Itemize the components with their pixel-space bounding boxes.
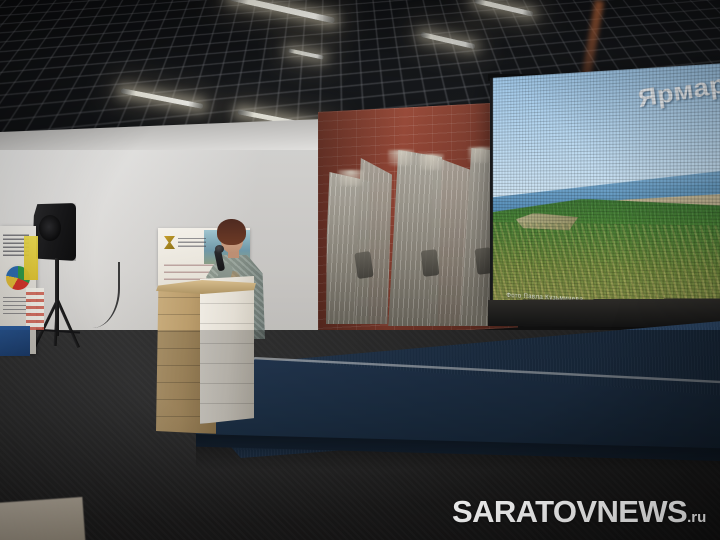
pa-speaker-cone [39, 215, 61, 241]
curtain-gather-top [418, 154, 444, 170]
led-screen-frame-bottom [488, 298, 720, 328]
curtain-tieback [354, 251, 373, 279]
watermark-brand: SARATOVNEWS [452, 494, 687, 529]
speaker-hair [217, 219, 246, 245]
watermark: SARATOVNEWS.ru [452, 494, 706, 530]
poster-tag-strip [26, 288, 44, 330]
pa-speaker-cabinet [33, 203, 76, 261]
poster-blue-sign [0, 326, 30, 356]
curtain-gather-top [388, 150, 414, 166]
podium-front-panel [200, 276, 254, 424]
curtain-tieback [421, 249, 440, 277]
floor-object [0, 497, 85, 540]
banner-logo-text [178, 238, 206, 247]
poster-yellow-strip [24, 236, 38, 280]
microphone-head-icon [215, 245, 224, 253]
event-photo: Ярмарка Фото Павла Кузьмичева [0, 0, 720, 540]
led-screen: Ярмарка Фото Павла Кузьмичева [490, 61, 720, 326]
banner-logo-icon [164, 236, 175, 249]
curtain-gather-top [338, 170, 364, 186]
watermark-suffix: .ru [687, 509, 706, 526]
